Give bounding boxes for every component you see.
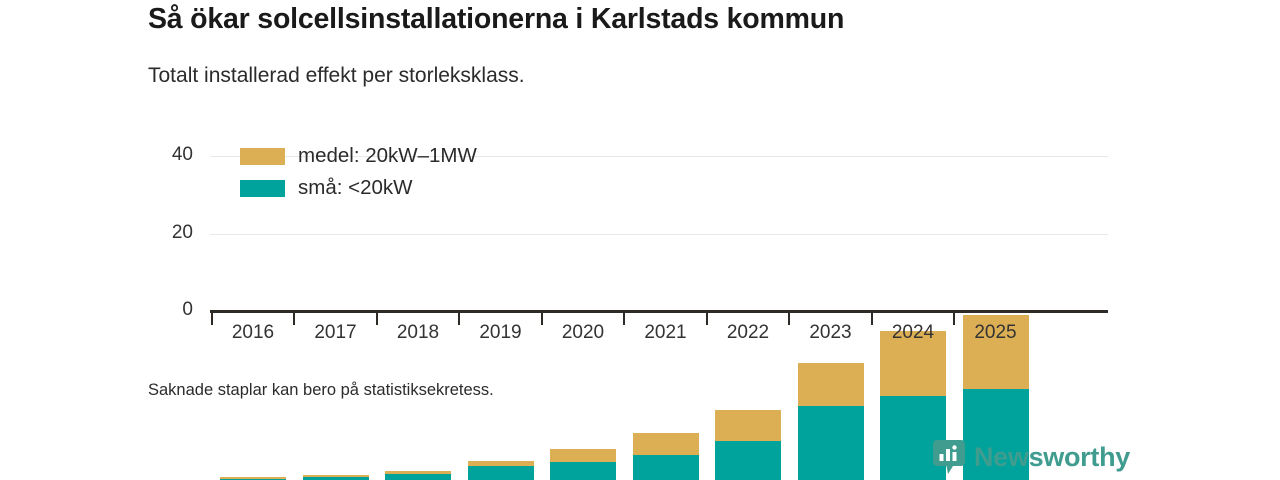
- bar-segment[interactable]: [550, 449, 616, 461]
- newsworthy-wordmark: Newsworthy: [974, 442, 1130, 473]
- footnote: Saknade staplar kan bero på statistiksek…: [148, 381, 494, 400]
- bar-segment[interactable]: [385, 474, 451, 480]
- chart-page: Så ökar solcellsinstallationerna i Karls…: [0, 0, 1280, 480]
- x-tick-label: 2017: [291, 322, 381, 344]
- bar-segment[interactable]: [303, 477, 369, 480]
- x-tick-label: 2025: [951, 322, 1041, 344]
- x-tick-label: 2023: [786, 322, 876, 344]
- newsworthy-bar-chart-pin-icon: [933, 440, 965, 474]
- chart-legend: medel: 20kW–1MWsmå: <20kW: [240, 140, 477, 204]
- legend-label: medel: 20kW–1MW: [298, 144, 477, 168]
- y-tick-label: 40: [172, 145, 193, 164]
- bar-segment[interactable]: [798, 406, 864, 480]
- bar-segment[interactable]: [468, 461, 534, 466]
- bar-segment[interactable]: [633, 433, 699, 455]
- bar-segment[interactable]: [550, 462, 616, 480]
- x-tick: [211, 312, 213, 325]
- stacked-bar-chart: 02040 2016201720182019202020212022202320…: [0, 0, 1280, 480]
- bar-segment[interactable]: [220, 477, 286, 479]
- y-tick-label: 0: [182, 300, 193, 319]
- bar-segment[interactable]: [303, 475, 369, 477]
- x-tick-label: 2022: [703, 322, 793, 344]
- newsworthy-logo: Newsworthy: [933, 440, 1130, 474]
- bar-segment[interactable]: [798, 363, 864, 407]
- x-tick-label: 2020: [538, 322, 628, 344]
- legend-item[interactable]: medel: 20kW–1MW: [240, 140, 477, 172]
- x-tick-label: 2024: [868, 322, 958, 344]
- bar-segment[interactable]: [715, 410, 781, 441]
- chart-bars: [210, 0, 1108, 480]
- legend-label: små: <20kW: [298, 176, 413, 200]
- bar-segment[interactable]: [385, 471, 451, 474]
- y-tick-label: 20: [172, 223, 193, 242]
- legend-item[interactable]: små: <20kW: [240, 172, 477, 204]
- legend-color-swatch: [240, 180, 285, 197]
- bar-segment[interactable]: [633, 455, 699, 480]
- x-tick-label: 2016: [208, 322, 298, 344]
- x-tick-label: 2018: [373, 322, 463, 344]
- bar-segment[interactable]: [715, 441, 781, 480]
- x-tick-label: 2021: [621, 322, 711, 344]
- legend-color-swatch: [240, 148, 285, 165]
- x-tick-label: 2019: [456, 322, 546, 344]
- bar-segment[interactable]: [468, 466, 534, 480]
